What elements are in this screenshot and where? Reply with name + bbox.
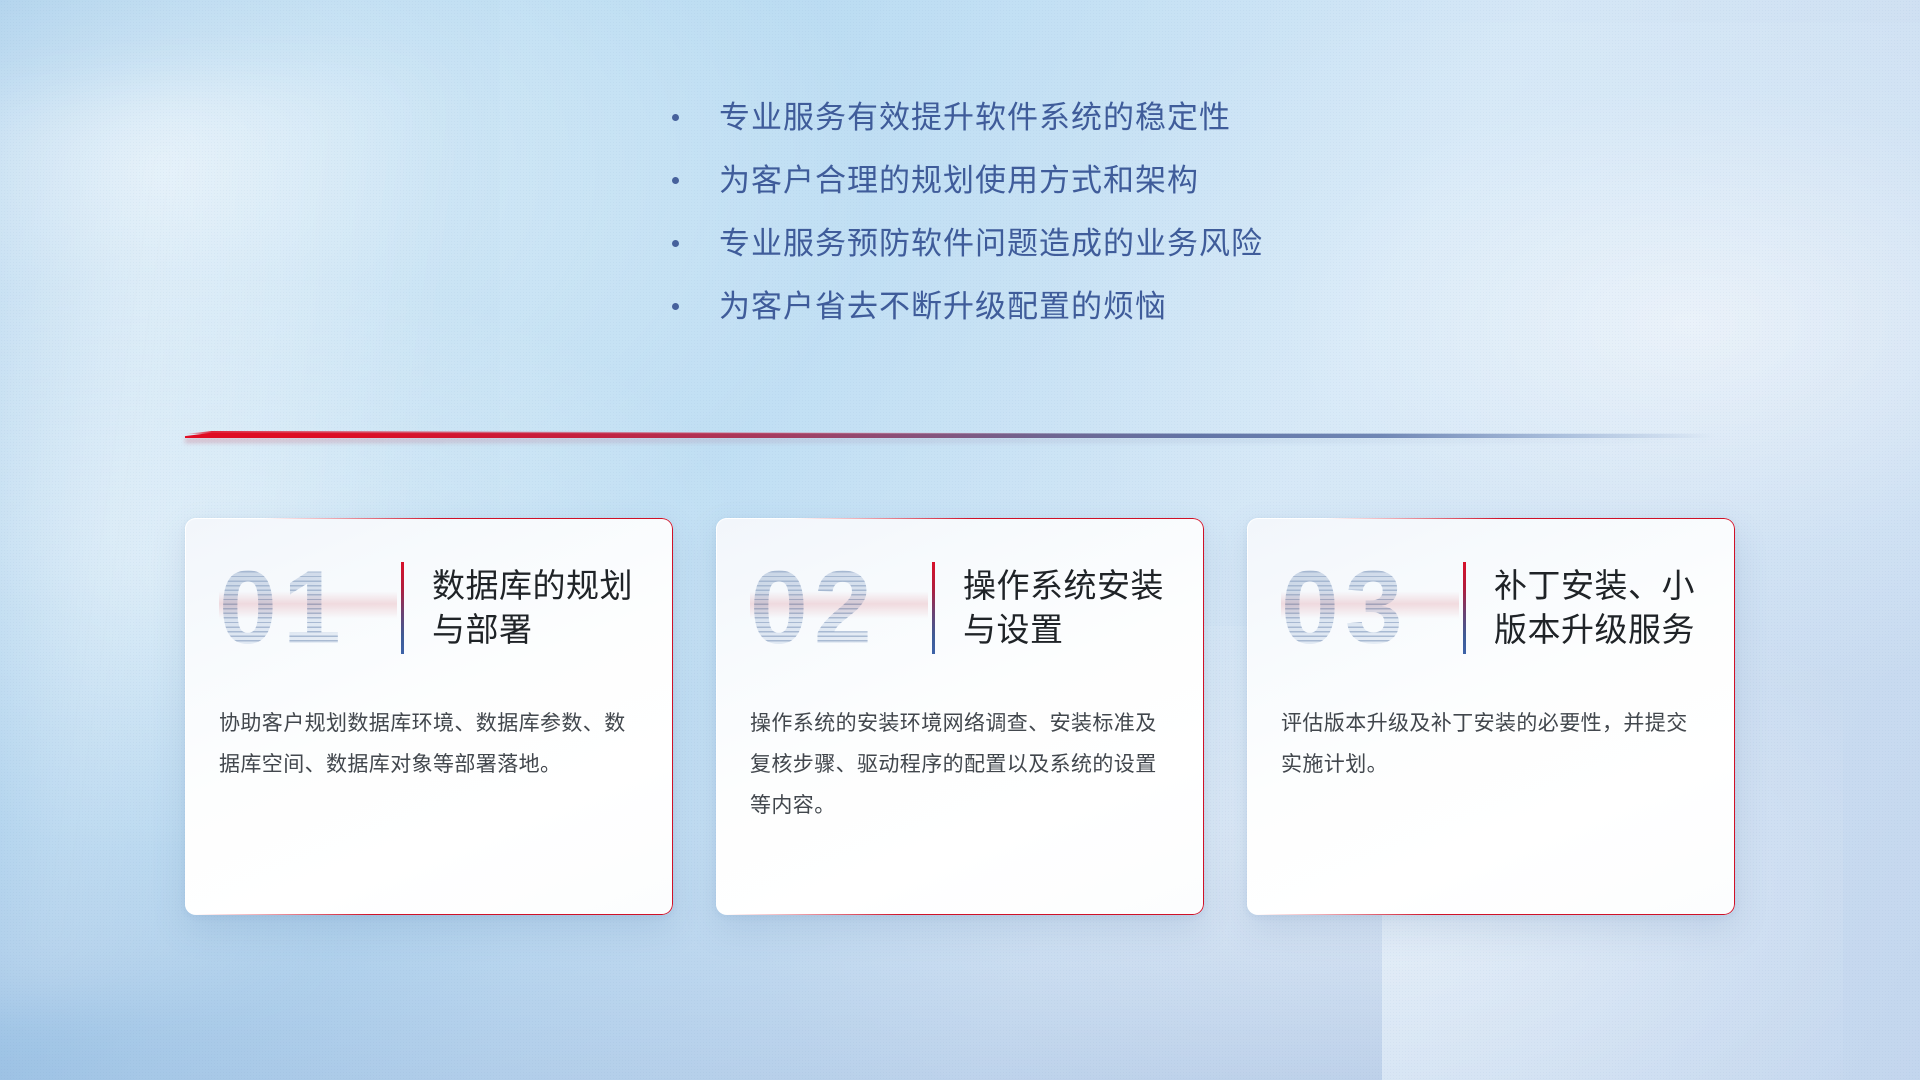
service-card-02[interactable]: 02 操作系统安装 与设置 操作系统的安装环境网络调查、安装标准及复核步骤、驱动…	[716, 518, 1204, 915]
bullet-text: 专业服务预防软件问题造成的业务风险	[719, 228, 1263, 259]
bullet-text: 为客户省去不断升级配置的烦恼	[719, 291, 1167, 322]
section-divider	[185, 428, 1715, 444]
card-number-wrapper: 03	[1281, 556, 1459, 660]
service-card-03[interactable]: 03 补丁安装、小 版本升级服务 评估版本升级及补丁安装的必要性，并提交实施计划…	[1247, 518, 1735, 915]
card-title: 补丁安装、小 版本升级服务	[1494, 564, 1695, 652]
card-title-separator-bar	[1463, 562, 1466, 654]
service-cards-row: 01 数据库的规划 与部署 协助客户规划数据库环境、数据库参数、数据库空间、数据…	[185, 518, 1735, 918]
card-number-wrapper: 01	[219, 556, 397, 660]
divider-shadow	[185, 438, 1715, 443]
bullet-dot-icon	[672, 240, 679, 247]
bullet-dot-icon	[672, 177, 679, 184]
card-header: 03 补丁安装、小 版本升级服务	[1247, 518, 1735, 698]
list-item: 为客户省去不断升级配置的烦恼	[0, 275, 1920, 338]
bullet-text: 为客户合理的规划使用方式和架构	[719, 165, 1199, 196]
card-number: 01	[219, 556, 397, 660]
list-item: 专业服务有效提升软件系统的稳定性	[0, 86, 1920, 149]
card-number-wrapper: 02	[750, 556, 928, 660]
card-number: 03	[1281, 556, 1459, 660]
bullet-dot-icon	[672, 303, 679, 310]
bullet-text: 专业服务有效提升软件系统的稳定性	[719, 102, 1231, 133]
card-description: 评估版本升级及补丁安装的必要性，并提交实施计划。	[1247, 698, 1735, 786]
service-card-01[interactable]: 01 数据库的规划 与部署 协助客户规划数据库环境、数据库参数、数据库空间、数据…	[185, 518, 673, 915]
card-description: 协助客户规划数据库环境、数据库参数、数据库空间、数据库对象等部署落地。	[185, 698, 673, 786]
card-title-separator-bar	[932, 562, 935, 654]
benefits-bullet-list: 专业服务有效提升软件系统的稳定性 为客户合理的规划使用方式和架构 专业服务预防软…	[0, 86, 1920, 338]
card-title-separator-bar	[401, 562, 404, 654]
card-header: 02 操作系统安装 与设置	[716, 518, 1204, 698]
list-item: 专业服务预防软件问题造成的业务风险	[0, 212, 1920, 275]
card-title: 操作系统安装 与设置	[963, 564, 1164, 652]
card-number: 02	[750, 556, 928, 660]
card-title: 数据库的规划 与部署	[432, 564, 633, 652]
bullet-dot-icon	[672, 114, 679, 121]
card-description: 操作系统的安装环境网络调查、安装标准及复核步骤、驱动程序的配置以及系统的设置等内…	[716, 698, 1204, 827]
divider-highlight	[185, 431, 1072, 434]
list-item: 为客户合理的规划使用方式和架构	[0, 149, 1920, 212]
card-header: 01 数据库的规划 与部署	[185, 518, 673, 698]
